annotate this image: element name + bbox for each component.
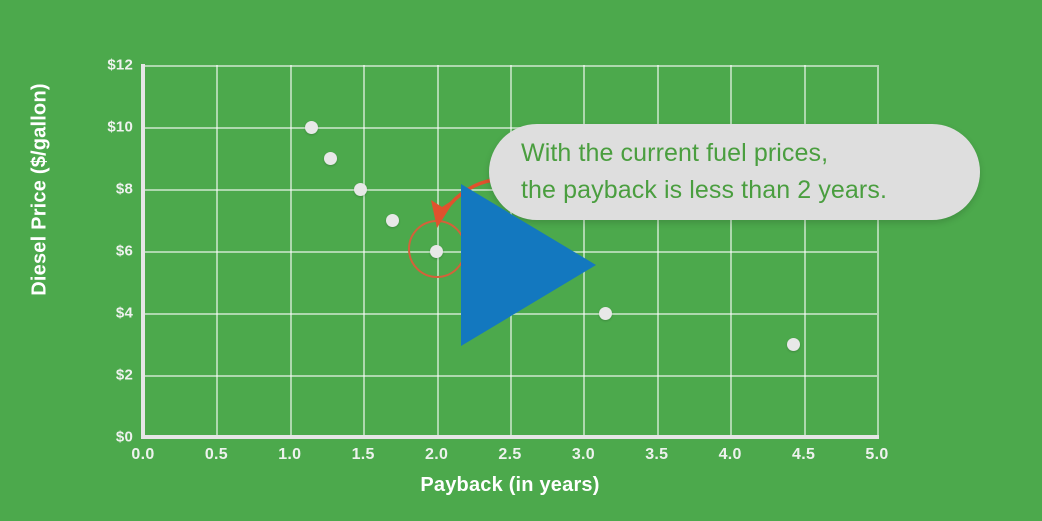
data-point [386,214,399,227]
gridline-horizontal [143,65,877,67]
y-axis-title: Diesel Price ($/gallon) [29,40,52,340]
x-tick-label: 4.5 [792,446,815,464]
x-tick-label: 0.0 [131,446,154,464]
x-tick-label: 1.0 [278,446,301,464]
y-tick-label: $0 [116,429,133,446]
x-axis-title: Payback (in years) [143,474,877,497]
y-axis-ticks: $0$2$4$6$8$10$12 [0,0,133,521]
chart-screenshot: $0$2$4$6$8$10$12 Payback (in years) Dies… [0,0,1042,521]
y-tick-label: $10 [107,119,133,136]
y-tick-label: $2 [116,367,133,384]
x-tick-label: 4.0 [719,446,742,464]
data-point [305,121,318,134]
x-tick-label: 1.5 [352,446,375,464]
y-tick-label: $8 [116,181,133,198]
x-axis-line [141,435,879,439]
data-point [430,245,443,258]
play-triangle-icon[interactable] [461,184,596,346]
x-tick-label: 0.5 [205,446,228,464]
data-point [787,338,800,351]
y-axis-line [141,64,145,439]
y-tick-label: $12 [107,57,133,74]
callout-line-1: With the current fuel prices, [521,135,980,172]
data-point [324,152,337,165]
x-tick-label: 5.0 [865,446,888,464]
gridline-horizontal [143,375,877,377]
x-tick-label: 3.0 [572,446,595,464]
x-tick-label: 2.5 [498,446,521,464]
x-tick-label: 3.5 [645,446,668,464]
data-point [354,183,367,196]
gridline-vertical [877,65,879,437]
x-tick-label: 2.0 [425,446,448,464]
play-button[interactable] [458,184,596,346]
y-tick-label: $4 [116,305,133,322]
y-tick-label: $6 [116,243,133,260]
data-point [599,307,612,320]
